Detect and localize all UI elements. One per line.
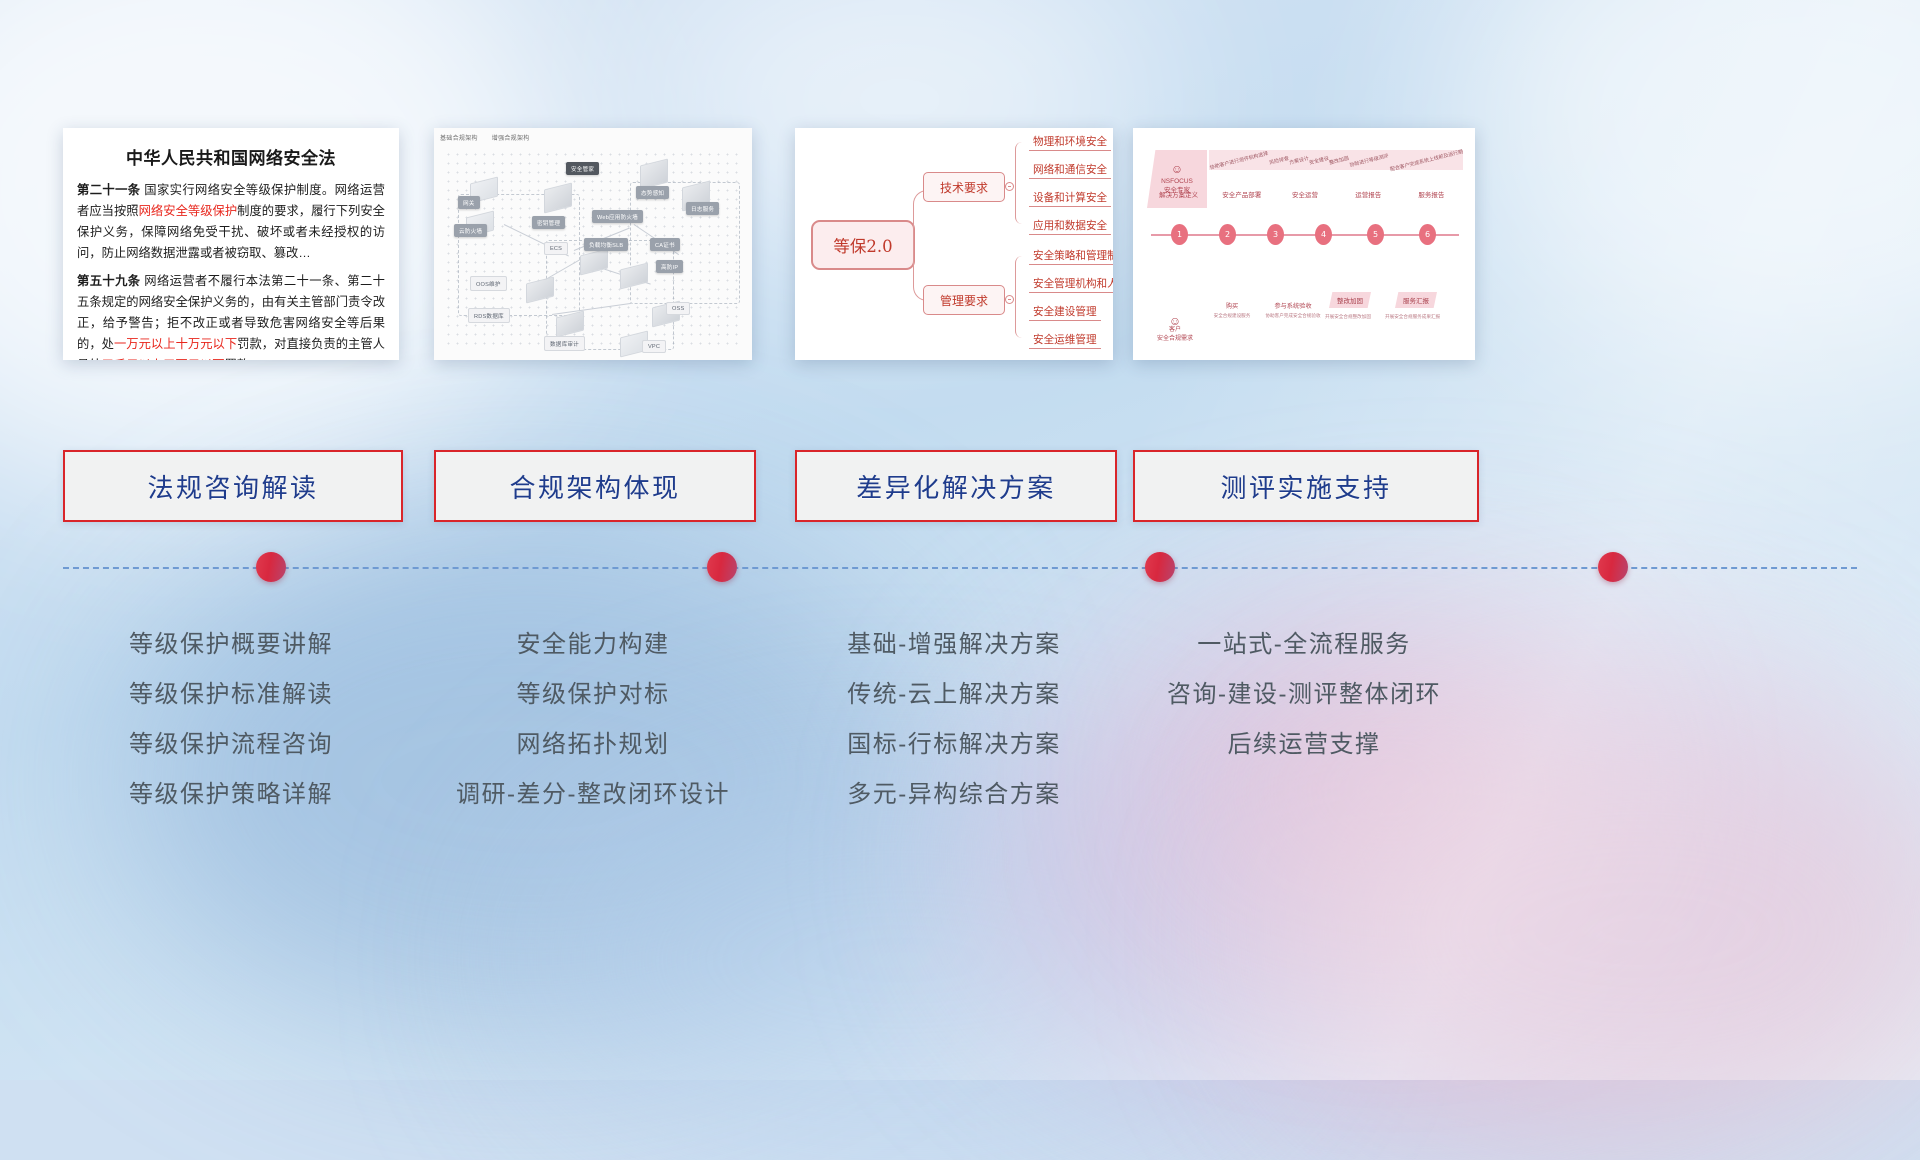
- infographic-tag-remediation: 整改加固: [1329, 292, 1371, 308]
- infographic-customer-label: 客户: [1147, 326, 1203, 335]
- heading-label-evaluation-support: 测评实施支持: [1220, 468, 1391, 505]
- infographic-tag-remediation-sub: 开展安全合规整改加固: [1325, 314, 1371, 320]
- heading-label-compliance-architecture: 合规架构体现: [509, 468, 680, 505]
- list-item: 等级保护流程咨询: [63, 720, 399, 770]
- legal-article-59-highlight-1: 一万元以上十万元以下: [114, 337, 237, 351]
- timeline-dashed-line: [63, 567, 1857, 569]
- architecture-tabs: 基础合规架构 增强合规架构: [440, 133, 542, 142]
- infographic-chip-acceptance-title: 参与系统验收: [1261, 302, 1325, 311]
- mindmap-leaf-organization: 安全管理机构和人员: [1029, 278, 1113, 293]
- legal-document-title: 中华人民共和国网络安全法: [77, 144, 385, 169]
- list-item: 安全能力构建: [434, 620, 752, 670]
- mindmap-leaf-physical: 物理和环境安全: [1029, 136, 1111, 151]
- card-mindmap[interactable]: 等保2.0 技术要求 管理要求 物理和环境安全 网络和通信安全 设备和计算安全 …: [795, 128, 1113, 360]
- heading-box-evaluation-support[interactable]: 测评实施支持: [1133, 450, 1479, 522]
- timeline: [0, 540, 1920, 600]
- heading-row: 法规咨询解读 合规架构体现 差异化解决方案 测评实施支持: [0, 450, 1920, 520]
- timeline-dot-2[interactable]: [707, 552, 737, 582]
- infographic-band-item-2: 风险排查: [1268, 154, 1289, 166]
- infographic-chip-purchase: 购买 安全合规建设服务: [1207, 302, 1257, 320]
- infographic-band-item-4: 安全建设: [1308, 154, 1329, 166]
- list-item: 后续运营支撑: [1133, 720, 1475, 770]
- legal-article-59-text-c: 罚款。: [225, 358, 262, 360]
- detail-list-evaluation-support: 一站式-全流程服务 咨询-建设-测评整体闭环 后续运营支撑: [1133, 620, 1475, 770]
- mindmap-branch-technical: 技术要求: [923, 172, 1005, 202]
- heading-box-compliance-architecture[interactable]: 合规架构体现: [434, 450, 756, 522]
- infographic-step-6: 6: [1419, 224, 1436, 245]
- legal-article-21-label: 第二十一条: [77, 183, 140, 197]
- architecture-node-rdsdb: RDS数据库: [468, 308, 510, 323]
- infographic-row-label-4: 运营报告: [1337, 189, 1400, 199]
- architecture-node-vpc: VPC: [642, 340, 666, 353]
- mindmap-leaf-operations: 安全运维管理: [1029, 334, 1101, 349]
- infographic-customer-block: ☺ 客户 安全合规需求: [1147, 317, 1203, 344]
- architecture-node-rds: 网关: [458, 196, 480, 209]
- heading-box-regulation-consulting[interactable]: 法规咨询解读: [63, 450, 403, 522]
- infographic-chip-purchase-sub: 安全合规建设服务: [1207, 311, 1257, 320]
- detail-list-row: 等级保护概要讲解 等级保护标准解读 等级保护流程咨询 等级保护策略详解 安全能力…: [0, 620, 1920, 880]
- architecture-canvas: 基础合规架构 增强合规架构: [434, 128, 752, 360]
- architecture-node-ca: CA证书: [650, 238, 680, 251]
- architecture-node-oss: OSS: [666, 302, 690, 315]
- architecture-node-antiddos: 高防IP: [656, 260, 683, 273]
- infographic-canvas: ☺ NSFOCUS 安全专家 协助客户进行测评机构选择 风险排查 方案设计 安全…: [1133, 128, 1475, 360]
- infographic-row-labels: 解决方案定义 安全产品部署 安全运营 运营报告 服务报告: [1147, 184, 1463, 204]
- list-item: 调研-差分-整改闭环设计: [434, 770, 752, 820]
- list-item: 等级保护策略详解: [63, 770, 399, 820]
- architecture-node-keymgmt: 密钥管理: [532, 216, 565, 229]
- detail-list-regulation-consulting: 等级保护概要讲解 等级保护标准解读 等级保护流程咨询 等级保护策略详解: [63, 620, 399, 820]
- mindmap-wire-technical-fan: [1015, 142, 1030, 224]
- slide-stage: 中华人民共和国网络安全法 第二十一条 国家实行网络安全等级保护制度。网络运营者应…: [0, 0, 1920, 1080]
- timeline-dot-3[interactable]: [1145, 552, 1175, 582]
- infographic-row-label-5: 服务报告: [1400, 189, 1463, 199]
- mindmap-root-node: 等保2.0: [811, 220, 915, 270]
- list-item: 等级保护对标: [434, 670, 752, 720]
- mindmap-leaf-construction: 安全建设管理: [1029, 306, 1101, 321]
- architecture-node-anquanguanjia: 安全管家: [566, 162, 599, 175]
- list-item: 网络拓扑规划: [434, 720, 752, 770]
- infographic-step-4: 4: [1315, 224, 1332, 245]
- architecture-node-oos: OOS维护: [470, 276, 507, 291]
- mindmap-leaf-network: 网络和通信安全: [1029, 164, 1111, 179]
- heading-label-regulation-consulting: 法规咨询解读: [147, 468, 318, 505]
- detail-list-compliance-architecture: 安全能力构建 等级保护对标 网络拓扑规划 调研-差分-整改闭环设计: [434, 620, 752, 820]
- infographic-timeline-axis: [1151, 234, 1459, 236]
- infographic-band-item-6: 协助进行等级测评: [1349, 152, 1390, 168]
- mindmap-branch-management: 管理要求: [923, 285, 1005, 315]
- detail-list-differentiated-solution: 基础-增强解决方案 传统-云上解决方案 国标-行标解决方案 多元-异构综合方案: [795, 620, 1113, 820]
- architecture-node-gateway: 云防火墙: [454, 224, 487, 237]
- legal-article-21-highlight: 网络安全等级保护: [139, 204, 238, 218]
- card-row: 中华人民共和国网络安全法 第二十一条 国家实行网络安全等级保护制度。网络运营者应…: [0, 128, 1920, 360]
- list-item: 等级保护概要讲解: [63, 620, 399, 670]
- legal-article-59: 第五十九条 网络运营者不履行本法第二十一条、第二十五条规定的网络安全保护义务的，…: [77, 271, 385, 360]
- infographic-top-band: 协助客户进行测评机构选择 风险排查 方案设计 安全建设 整改加固 协助进行等级测…: [1209, 150, 1463, 170]
- list-item: 等级保护标准解读: [63, 670, 399, 720]
- architecture-node-waf: Web应用防火墙: [592, 210, 643, 223]
- architecture-node-dbaudit: 数据库审计: [544, 336, 585, 351]
- architecture-node-slb: 负载均衡SLB: [584, 238, 628, 251]
- legal-article-59-label: 第五十九条: [77, 274, 140, 288]
- infographic-chip-acceptance: 参与系统验收 协助客户完成安全合规验收: [1261, 302, 1325, 320]
- infographic-step-1: 1: [1171, 224, 1188, 245]
- legal-document-body: 中华人民共和国网络安全法 第二十一条 国家实行网络安全等级保护制度。网络运营者应…: [63, 128, 399, 360]
- mindmap-wire-management-fan: [1015, 256, 1030, 338]
- legal-article-21: 第二十一条 国家实行网络安全等级保护制度。网络运营者应当按照网络安全等级保护制度…: [77, 180, 385, 264]
- list-item: 国标-行标解决方案: [795, 720, 1113, 770]
- mindmap-leaf-device: 设备和计算安全: [1029, 192, 1111, 207]
- infographic-band-item-7: 配合客户完成系统上线前及运行期: [1389, 148, 1463, 173]
- architecture-tab-basic[interactable]: 基础合规架构: [440, 136, 478, 142]
- card-service-infographic[interactable]: ☺ NSFOCUS 安全专家 协助客户进行测评机构选择 风险排查 方案设计 安全…: [1133, 128, 1475, 360]
- list-item: 基础-增强解决方案: [795, 620, 1113, 670]
- timeline-dot-1[interactable]: [256, 552, 286, 582]
- list-item: 一站式-全流程服务: [1133, 620, 1475, 670]
- infographic-step-5: 5: [1367, 224, 1384, 245]
- infographic-step-3: 3: [1267, 224, 1284, 245]
- customer-icon: ☺: [1147, 317, 1203, 326]
- mindmap-collapse-icon-management[interactable]: [1005, 295, 1014, 304]
- architecture-node-situation: 态势感知: [636, 186, 669, 199]
- architecture-tab-enhanced[interactable]: 增强合规架构: [492, 136, 530, 142]
- list-item: 咨询-建设-测评整体闭环: [1133, 670, 1475, 720]
- infographic-row-label-1: 解决方案定义: [1147, 189, 1210, 199]
- card-legal-document[interactable]: 中华人民共和国网络安全法 第二十一条 国家实行网络安全等级保护制度。网络运营者应…: [63, 128, 399, 360]
- person-icon: ☺: [1171, 163, 1183, 175]
- infographic-tag-report-sub: 开展安全合规服务成果汇报: [1385, 314, 1440, 320]
- infographic-band-item-1: 协助客户进行测评机构选择: [1209, 149, 1269, 170]
- infographic-band-item-5: 整改加固: [1329, 154, 1350, 166]
- list-item: 多元-异构综合方案: [795, 770, 1113, 820]
- mindmap-collapse-icon-technical[interactable]: [1005, 182, 1014, 191]
- mindmap-leaf-application: 应用和数据安全: [1029, 220, 1111, 235]
- mindmap-canvas: 等保2.0 技术要求 管理要求 物理和环境安全 网络和通信安全 设备和计算安全 …: [795, 128, 1113, 360]
- mindmap-leaf-policy: 安全策略和管理制度: [1029, 250, 1113, 265]
- timeline-dot-4[interactable]: [1598, 552, 1628, 582]
- infographic-tag-report: 服务汇报: [1395, 292, 1437, 308]
- architecture-node-ecs: ECS: [544, 242, 568, 255]
- infographic-row-label-3: 安全运营: [1273, 189, 1336, 199]
- heading-box-differentiated-solution[interactable]: 差异化解决方案: [795, 450, 1117, 522]
- infographic-chip-purchase-title: 购买: [1207, 302, 1257, 311]
- card-architecture-diagram[interactable]: 基础合规架构 增强合规架构: [434, 128, 752, 360]
- legal-article-59-highlight-2: 五千元以上五万元以下: [102, 358, 225, 360]
- heading-label-differentiated-solution: 差异化解决方案: [856, 468, 1056, 505]
- infographic-band-item-3: 方案设计: [1288, 154, 1309, 166]
- infographic-row-label-2: 安全产品部署: [1210, 189, 1273, 199]
- infographic-customer-subtitle: 安全合规需求: [1147, 335, 1203, 344]
- list-item: 传统-云上解决方案: [795, 670, 1113, 720]
- architecture-node-log: 日志服务: [686, 202, 719, 215]
- infographic-chip-acceptance-sub: 协助客户完成安全合规验收: [1261, 311, 1325, 320]
- infographic-step-2: 2: [1219, 224, 1236, 245]
